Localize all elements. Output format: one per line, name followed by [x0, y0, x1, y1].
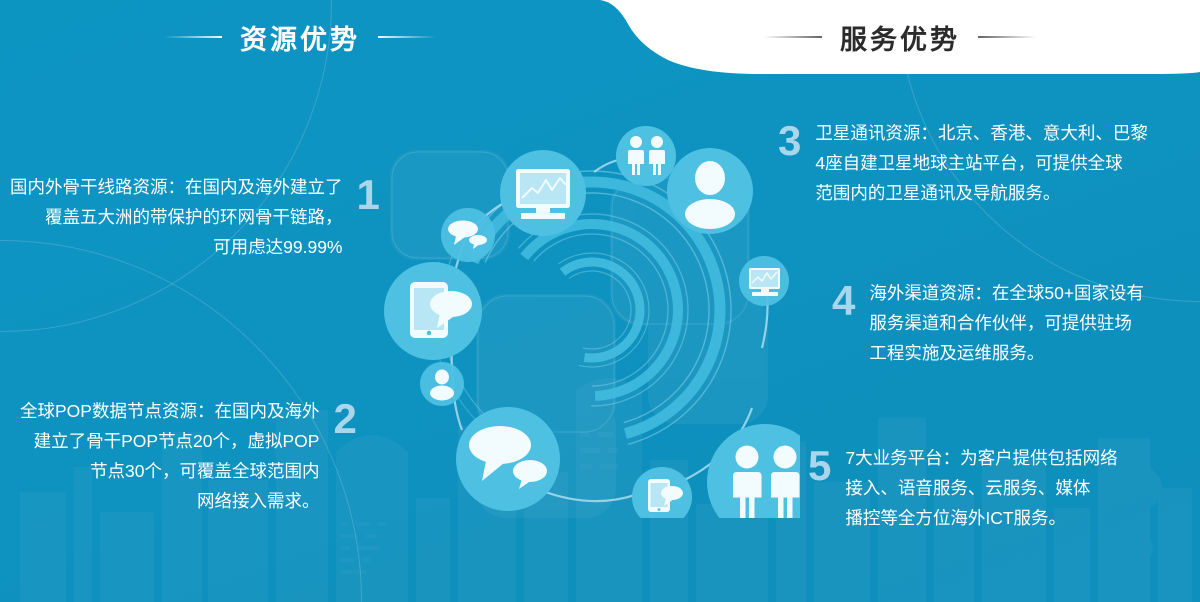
hub-node-avatar-small: [420, 362, 464, 406]
callout-2: 全球POP数据节点资源：在国内及海外 建立了骨干POP节点20个，虚拟POP 节…: [20, 396, 400, 516]
hub-node-monitor-small: [739, 256, 789, 306]
callout-2-text: 全球POP数据节点资源：在国内及海外 建立了骨干POP节点20个，虚拟POP 节…: [20, 396, 319, 516]
callout-1-text: 国内外骨干线路资源：在国内及海外建立了 覆盖五大洲的带保护的环网骨干链路， 可用…: [10, 172, 343, 262]
callout-4: 4 海外渠道资源：在全球50+国家设有 服务渠道和合作伙伴，可提供驻场 工程实施…: [832, 278, 1200, 368]
header-title-service: 服务优势: [840, 18, 960, 57]
callout-5-text: 7大业务平台：为客户提供包括网络 接入、语音服务、云服务、媒体 播控等全方位海外…: [845, 443, 1117, 533]
header-title-resource: 资源优势: [240, 18, 360, 57]
infographic-canvas: 资源优势 服务优势: [0, 0, 1200, 602]
callout-5: 5 7大业务平台：为客户提供包括网络 接入、语音服务、云服务、媒体 播控等全方位…: [808, 443, 1200, 533]
callout-3-number: 3: [778, 120, 801, 162]
header-section-service: 服务优势: [600, 0, 1200, 74]
callout-4-number: 4: [832, 280, 855, 322]
callout-4-text: 海外渠道资源：在全球50+国家设有 服务渠道和合作伙伴，可提供驻场 工程实施及运…: [869, 278, 1144, 368]
callout-3: 3 卫星通讯资源：北京、香港、意大利、巴黎 4座自建卫星地球主站平台，可提供全球…: [778, 118, 1198, 208]
callout-1: 国内外骨干线路资源：在国内及海外建立了 覆盖五大洲的带保护的环网骨干链路， 可用…: [10, 172, 400, 262]
header-rule-left: [764, 36, 822, 38]
header-section-resource: 资源优势: [0, 0, 600, 74]
hub-node-avatar-large: [667, 148, 753, 234]
hub-node-tablet-chat-bottom: [632, 467, 692, 518]
header-rule-left: [164, 36, 222, 38]
header-rule-right: [378, 36, 436, 38]
hub-node-monitor-chart: [500, 150, 586, 236]
header-band: 资源优势 服务优势: [0, 0, 1200, 95]
callout-2-number: 2: [333, 398, 356, 440]
hub-node-two-people-right: [707, 424, 800, 518]
hub-node-two-people-top: [616, 126, 676, 186]
header-rule-right: [978, 36, 1036, 38]
hub-node-chat-small-top: [441, 208, 495, 262]
hub-node-tablet-chat-left: [384, 262, 482, 360]
hub-node-speech-bubbles: [456, 407, 560, 511]
callout-1-number: 1: [357, 174, 380, 216]
network-hub-graphic: [380, 98, 800, 518]
callout-3-text: 卫星通讯资源：北京、香港、意大利、巴黎 4座自建卫星地球主站平台，可提供全球 范…: [815, 118, 1148, 208]
callout-5-number: 5: [808, 445, 831, 487]
